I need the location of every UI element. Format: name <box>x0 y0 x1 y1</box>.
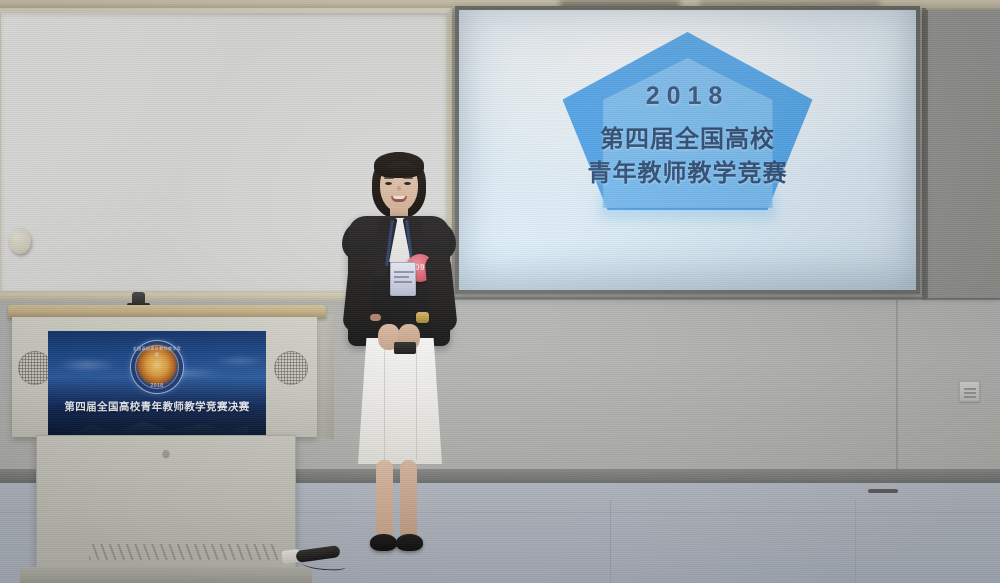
leg-left <box>376 460 393 540</box>
cabinet-lock-icon <box>163 450 170 457</box>
floor-tile-line <box>855 500 856 583</box>
badge-line <box>394 276 409 278</box>
eye-left <box>385 182 392 185</box>
hair-front <box>374 152 424 178</box>
skirt <box>358 338 442 464</box>
podium-body: 全国高校青年教师教学竞赛 2018 第四届全国高校青年教师教学竞赛决赛 <box>12 317 317 437</box>
lecture-hall-scene: 2018 第四届全国高校 青年教师教学竞赛 全国高校青年教师教学竞赛 2018 <box>0 0 1000 583</box>
presentation-clicker-icon <box>394 342 416 354</box>
projection-screen-surface: 2018 第四届全国高校 青年教师教学竞赛 <box>459 10 916 290</box>
competition-emblem-icon: 全国高校青年教师教学竞赛 2018 <box>130 340 184 394</box>
podium-banner-text: 第四届全国高校青年教师教学竞赛决赛 <box>48 399 266 414</box>
podium-banner: 全国高校青年教师教学竞赛 2018 第四届全国高校青年教师教学竞赛决赛 <box>48 331 266 441</box>
shoe-right <box>396 534 423 551</box>
eye-right <box>404 182 411 185</box>
projection-screen: 2018 第四届全国高校 青年教师教学竞赛 <box>455 6 920 294</box>
side-panel-board <box>925 10 1000 298</box>
id-badge <box>390 262 416 296</box>
wall-switch-plate-icon <box>959 381 980 402</box>
screen-vignette <box>459 10 916 290</box>
emblem-arc-text: 全国高校青年教师教学竞赛 <box>131 346 183 358</box>
eyebrow-left <box>384 177 394 179</box>
podium-cabinet <box>36 435 296 570</box>
speaker-grille-icon <box>18 351 52 385</box>
whiteboard-knob-icon <box>9 228 31 254</box>
skirt-fold <box>416 340 417 460</box>
presenter: 09 <box>332 150 464 570</box>
floor-microphone <box>282 546 342 564</box>
nose <box>397 186 401 191</box>
badge-line <box>394 271 414 273</box>
podium-base-plinth <box>20 567 312 583</box>
badge-line <box>394 281 412 283</box>
cabinet-vents <box>89 544 279 560</box>
emblem-year-text: 2018 <box>131 383 183 389</box>
bracelet <box>370 314 381 321</box>
leg-right <box>400 460 417 540</box>
podium: 全国高校青年教师教学竞赛 2018 第四届全国高校青年教师教学竞赛决赛 <box>8 305 326 565</box>
skirt-fold <box>384 340 385 460</box>
speaker-grille-icon <box>274 351 308 385</box>
wall-vertical-seam <box>896 300 898 475</box>
floor-cable <box>868 489 898 493</box>
wristwatch-icon <box>416 312 429 323</box>
eyebrow-right <box>403 177 413 179</box>
shoe-left <box>370 534 397 551</box>
